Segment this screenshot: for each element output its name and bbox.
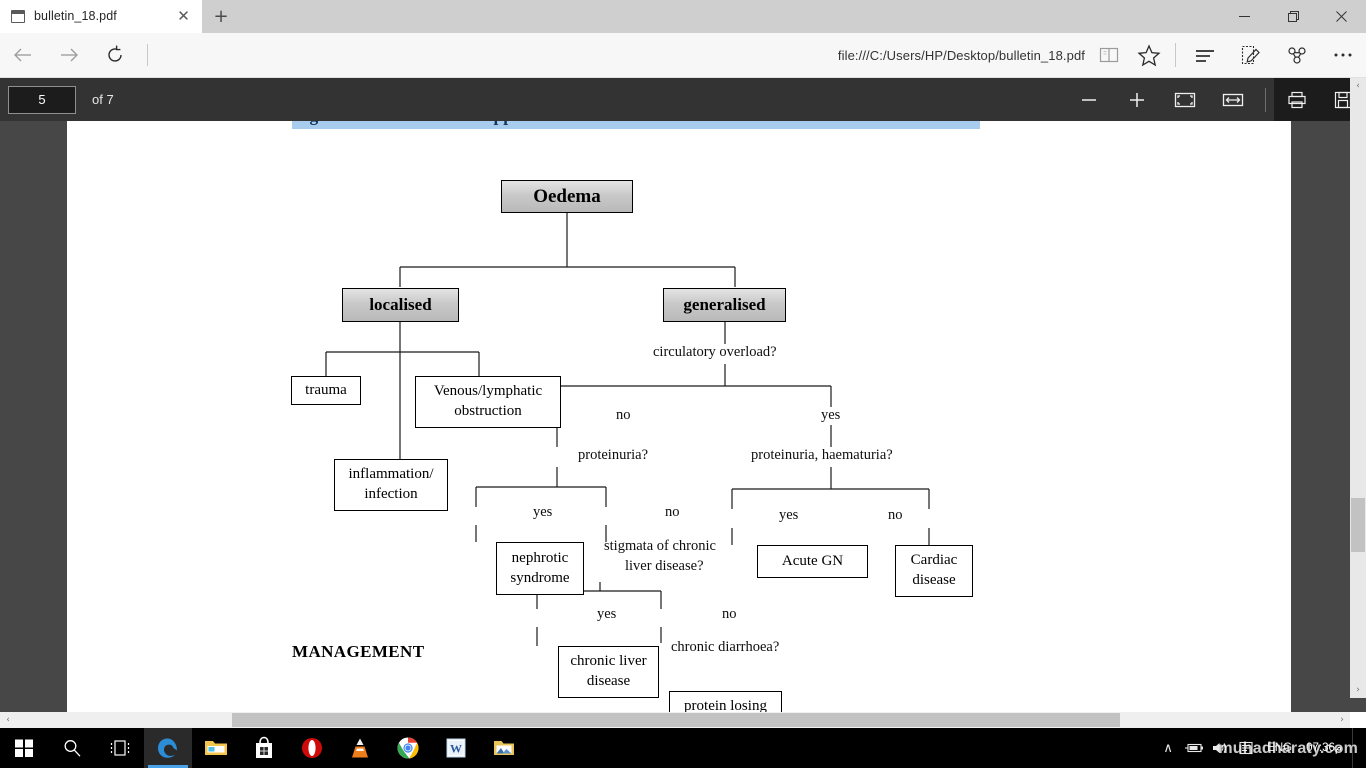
node-chronic-liver-disease: chronic liver disease xyxy=(558,646,659,698)
refresh-icon[interactable] xyxy=(92,33,138,78)
fit-width-icon[interactable] xyxy=(1209,78,1257,121)
start-button[interactable] xyxy=(0,728,48,768)
scroll-up-icon[interactable]: ‹ xyxy=(1350,78,1366,94)
node-acute-gn: Acute GN xyxy=(757,545,868,578)
node-protein-losing-enteropathy: protein losing enteropathy xyxy=(669,691,782,712)
site-watermark: muhadharaty.com xyxy=(1218,740,1358,758)
edge-button[interactable] xyxy=(144,728,192,768)
fit-page-icon[interactable] xyxy=(1161,78,1209,121)
question-circulatory-overload: circulatory overload? xyxy=(653,344,777,361)
node-localised: localised xyxy=(342,288,459,322)
store-button[interactable] xyxy=(240,728,288,768)
edge-label-circulatory-no: no xyxy=(616,407,631,424)
section-heading-management: MANAGEMENT xyxy=(292,642,424,662)
browser-tab[interactable]: bulletin_18.pdf ✕ xyxy=(0,0,202,33)
question-stigmata-line2: liver disease? xyxy=(625,558,704,575)
zoom-out-icon[interactable] xyxy=(1065,78,1113,121)
zoom-in-icon[interactable] xyxy=(1113,78,1161,121)
scroll-left-icon[interactable]: ‹ xyxy=(0,712,16,728)
more-options-icon[interactable] xyxy=(1320,33,1366,78)
reading-view-icon[interactable] xyxy=(1089,33,1129,78)
node-venous-lymphatic-obstruction: Venous/lymphatic obstruction xyxy=(415,376,561,428)
edge-label-stigmata-no: no xyxy=(722,606,737,623)
pdf-document-icon xyxy=(11,10,25,23)
search-button[interactable] xyxy=(48,728,96,768)
back-icon[interactable] xyxy=(0,33,46,78)
address-url-text: file:///C:/Users/HP/Desktop/bulletin_18.… xyxy=(838,48,1085,63)
print-icon[interactable] xyxy=(1274,78,1320,121)
edge-label-stigmata-yes: yes xyxy=(597,606,616,623)
edge-label-haematuria-yes: yes xyxy=(779,507,798,524)
edge-label-proteinuria-no: no xyxy=(665,504,680,521)
edge-label-proteinuria-yes: yes xyxy=(533,504,552,521)
minimize-icon[interactable] xyxy=(1220,0,1269,33)
node-nephrotic-syndrome: nephrotic syndrome xyxy=(496,542,584,595)
window-controls xyxy=(1220,0,1366,33)
question-proteinuria: proteinuria? xyxy=(578,447,648,464)
new-tab-button[interactable]: + xyxy=(202,0,240,33)
node-cardiac-disease: Cardiac disease xyxy=(895,545,973,597)
page-number-input[interactable]: 5 xyxy=(8,86,76,114)
pdf-toolbar: 5 of 7 xyxy=(0,78,1366,121)
vertical-scroll-thumb[interactable] xyxy=(1351,498,1365,552)
question-proteinuria-haematuria: proteinuria, haematuria? xyxy=(751,447,893,464)
tab-title: bulletin_18.pdf xyxy=(34,9,117,23)
node-inflammation-infection: inflammation/ infection xyxy=(334,459,448,511)
forward-icon[interactable] xyxy=(46,33,92,78)
address-bar[interactable]: file:///C:/Users/HP/Desktop/bulletin_18.… xyxy=(156,33,1089,78)
horizontal-scrollbar[interactable]: ‹ › xyxy=(0,712,1350,728)
scroll-right-icon[interactable]: › xyxy=(1334,712,1350,728)
title-bar: bulletin_18.pdf ✕ + xyxy=(0,0,1366,33)
tab-strip-empty-area xyxy=(240,0,1220,33)
show-hidden-icons-icon[interactable]: ∧ xyxy=(1155,728,1181,768)
browser-window: bulletin_18.pdf ✕ + xyxy=(0,0,1366,768)
toolbar-divider xyxy=(147,44,148,66)
pdf-toolbar-divider xyxy=(1265,88,1266,112)
vlc-media-player-button[interactable] xyxy=(336,728,384,768)
svg-text:W: W xyxy=(450,742,462,756)
hub-icon[interactable] xyxy=(1182,33,1228,78)
battery-icon[interactable] xyxy=(1181,728,1207,768)
flowchart-connectors xyxy=(67,119,1291,712)
node-trauma: trauma xyxy=(291,376,361,405)
file-explorer-button[interactable] xyxy=(192,728,240,768)
opera-button[interactable] xyxy=(288,728,336,768)
pictures-folder-button[interactable] xyxy=(480,728,528,768)
word-button[interactable]: W xyxy=(432,728,480,768)
node-oedema: Oedema xyxy=(501,180,633,213)
page-total-label: of 7 xyxy=(92,92,114,107)
maximize-icon[interactable] xyxy=(1269,0,1318,33)
web-note-icon[interactable] xyxy=(1228,33,1274,78)
edge-label-circulatory-yes: yes xyxy=(821,407,840,424)
taskbar: W ∧ xyxy=(0,728,1366,768)
close-window-icon[interactable] xyxy=(1317,0,1366,33)
node-generalised: generalised xyxy=(663,288,786,322)
scroll-down-icon[interactable]: › xyxy=(1350,682,1366,698)
task-view-button[interactable] xyxy=(96,728,144,768)
question-stigmata-line1: stigmata of chronic xyxy=(604,538,716,555)
close-icon[interactable]: ✕ xyxy=(175,8,192,25)
question-chronic-diarrhoea: chronic diarrhoea? xyxy=(671,639,779,656)
vertical-scrollbar[interactable]: ‹ › xyxy=(1350,78,1366,698)
horizontal-scroll-thumb[interactable] xyxy=(232,713,1120,727)
favorites-star-icon[interactable] xyxy=(1129,33,1169,78)
toolbar-divider-2 xyxy=(1175,43,1176,67)
edge-label-haematuria-no: no xyxy=(888,507,903,524)
chrome-button[interactable] xyxy=(384,728,432,768)
pdf-page: Oedema localised generalised trauma Veno… xyxy=(67,119,1291,712)
pdf-viewer: Oedema localised generalised trauma Veno… xyxy=(0,78,1366,712)
navigation-bar: file:///C:/Users/HP/Desktop/bulletin_18.… xyxy=(0,33,1366,78)
share-icon[interactable] xyxy=(1274,33,1320,78)
flowchart: Oedema localised generalised trauma Veno… xyxy=(67,119,1291,712)
